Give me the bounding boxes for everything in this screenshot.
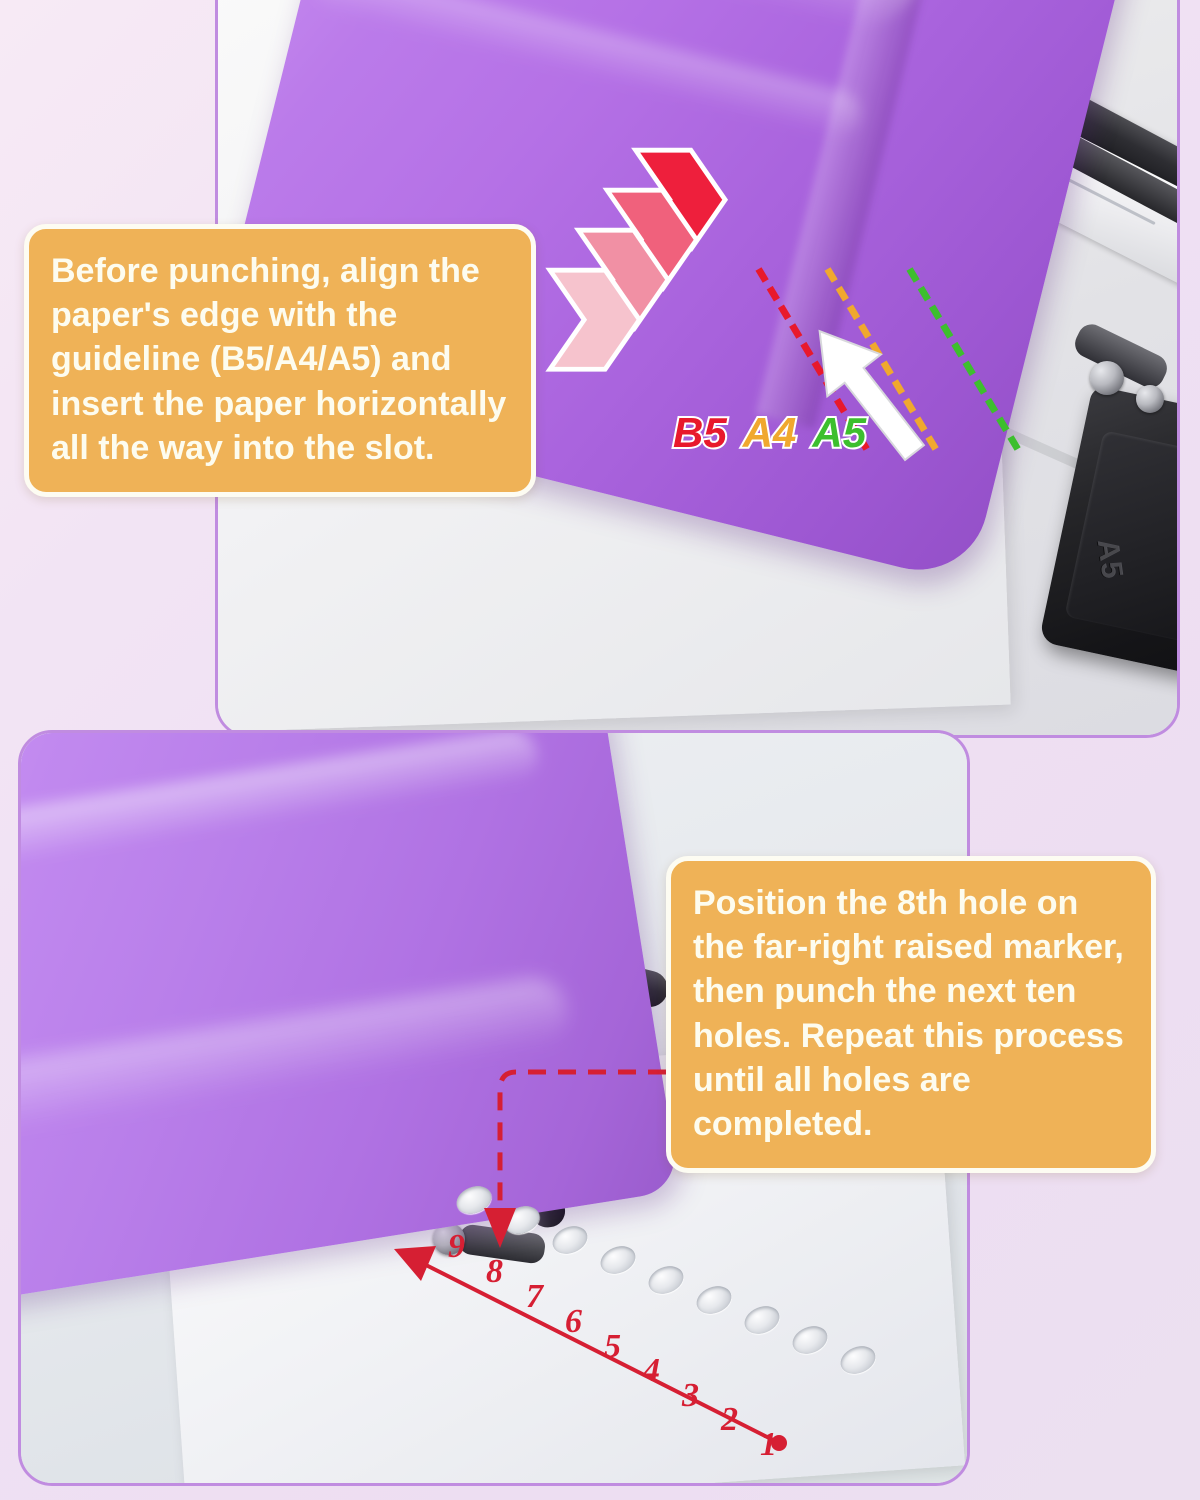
size-label-b5: B5: [673, 409, 727, 457]
hole-number-3: 3: [682, 1377, 699, 1415]
hole-number-8: 8: [486, 1253, 503, 1291]
hole-number-4: 4: [643, 1352, 660, 1390]
hole-number-5: 5: [604, 1328, 621, 1366]
hole-number-1: 1: [760, 1426, 777, 1464]
base-emboss-label: A5: [1090, 537, 1129, 582]
pivot-screw: [1136, 385, 1164, 413]
size-label-a4: A4: [743, 409, 797, 457]
callout-hole-sequence-instruction: Position the 8th hole on the far-right r…: [666, 856, 1156, 1173]
callout-alignment-instruction: Before punching, align the paper's edge …: [24, 224, 536, 497]
instruction-sheet: A5: [0, 0, 1200, 1500]
size-label-a5: A5: [812, 409, 866, 457]
hole-number-9: 9: [448, 1228, 465, 1266]
pivot-screw: [1090, 361, 1124, 395]
hole-number-2: 2: [721, 1401, 738, 1439]
hole-number-7: 7: [526, 1278, 543, 1316]
hole-number-6: 6: [565, 1303, 582, 1341]
size-guide-labels: B5 A4 A5: [673, 409, 866, 457]
